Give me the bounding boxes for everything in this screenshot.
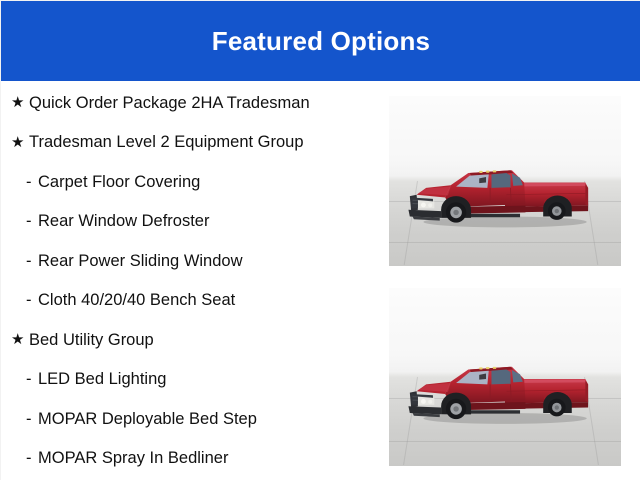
dash-bullet-icon: - [26,450,38,467]
dash-bullet-icon: - [26,174,38,191]
option-label: Bed Utility Group [29,331,154,349]
list-item: - Rear Power Sliding Window [1,241,381,281]
option-label: LED Bed Lighting [38,370,166,388]
dash-bullet-icon: - [26,371,38,388]
option-label: MOPAR Deployable Bed Step [38,410,257,428]
featured-options-list: ★ Quick Order Package 2HA Tradesman ★ Tr… [1,81,381,481]
list-item: - Carpet Floor Covering [1,162,381,202]
dash-bullet-icon: - [26,292,38,309]
featured-options-panel: Featured Options ★ Quick Order Package 2… [0,0,640,480]
page-title: Featured Options [212,28,430,54]
list-item: - LED Bed Lighting [1,360,381,400]
option-label: MOPAR Spray In Bedliner [38,449,228,467]
option-label: Quick Order Package 2HA Tradesman [29,94,310,112]
truck-illustration [403,140,607,245]
photo-backdrop [389,288,621,466]
header-banner: Featured Options [1,1,640,81]
star-bullet-icon: ★ [11,135,29,150]
dash-bullet-icon: - [26,411,38,428]
list-item: - MOPAR Deployable Bed Step [1,399,381,439]
list-item: - MOPAR Spray In Bedliner [1,439,381,479]
vehicle-photo-front-left[interactable] [389,96,621,266]
list-item: ★ Tradesman Level 2 Equipment Group [1,123,381,163]
dash-bullet-icon: - [26,213,38,230]
option-label: Rear Power Sliding Window [38,252,243,270]
option-label: Carpet Floor Covering [38,173,200,191]
list-item: - Cloth 40/20/40 Bench Seat [1,281,381,321]
photo-backdrop [389,96,621,266]
dash-bullet-icon: - [26,253,38,270]
option-label: Tradesman Level 2 Equipment Group [29,133,304,151]
vehicle-photo-front-left-alt[interactable] [389,288,621,466]
option-label: Rear Window Defroster [38,212,209,230]
list-item: - Rear Window Defroster [1,202,381,242]
truck-illustration [403,334,607,444]
star-bullet-icon: ★ [11,332,29,347]
list-item: ★ Quick Order Package 2HA Tradesman [1,83,381,123]
star-bullet-icon: ★ [11,95,29,110]
list-item: ★ Bed Utility Group [1,320,381,360]
option-label: Cloth 40/20/40 Bench Seat [38,291,235,309]
content-area: ★ Quick Order Package 2HA Tradesman ★ Tr… [1,81,640,481]
